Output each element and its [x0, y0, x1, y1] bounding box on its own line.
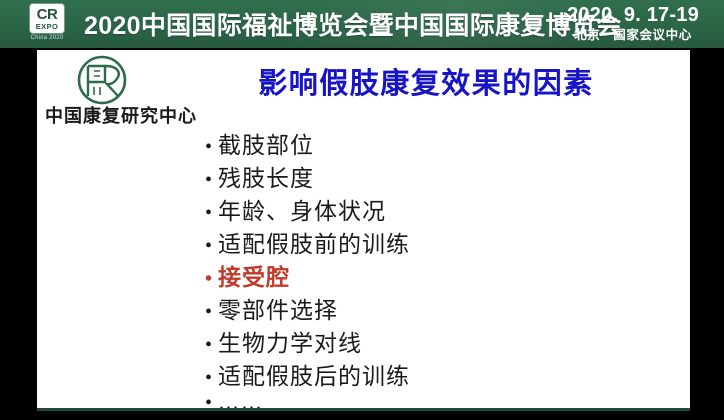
list-item: • 适配假肢前的训练 — [205, 225, 625, 258]
cr-expo-year-text: China 2020 — [31, 35, 64, 41]
event-banner: CR EXPO China 2020 2020中国国际福祉博览会暨中国国际康复博… — [0, 0, 724, 48]
list-item-label: 适配假肢前的训练 — [218, 225, 410, 259]
list-item-label: 适配假肢后的训练 — [218, 357, 410, 391]
cr-expo-expo-text: EXPO — [36, 23, 58, 31]
list-item: • 截肢部位 — [205, 126, 625, 159]
list-item: • 生物力学对线 — [205, 324, 625, 357]
cr-expo-logo: CR EXPO China 2020 — [24, 4, 70, 45]
list-item-label: 年龄、身体状况 — [218, 192, 386, 226]
banner-date-text: 2020. 9. 17-19 — [567, 5, 699, 26]
bullet-dot-icon: • — [205, 137, 218, 157]
cr-expo-badge-icon: CR EXPO — [30, 4, 64, 33]
bullet-dot-icon: • — [205, 203, 218, 223]
crrc-name-text: 中国康复研究中心 — [42, 102, 200, 128]
list-item-highlighted: • 接受腔 — [205, 258, 625, 291]
list-item-label: 残肢长度 — [218, 159, 314, 193]
bullet-dot-icon: • — [205, 368, 218, 388]
list-item-label: …… — [218, 390, 264, 410]
banner-title: 2020中国国际福祉博览会暨中国国际康复博览会 — [84, 0, 622, 48]
list-item-label: 零部件选择 — [218, 291, 338, 325]
list-item: • 残肢长度 — [205, 159, 625, 192]
slide-title: 影响假肢康复效果的因素 — [37, 60, 690, 102]
banner-venue-text: 北京 · 国家会议中心 — [574, 28, 692, 43]
list-item: • …… — [205, 390, 625, 410]
bullet-dot-icon: • — [205, 269, 218, 289]
list-item-label: 生物力学对线 — [218, 324, 362, 358]
factors-bullet-list: • 截肢部位 • 残肢长度 • 年龄、身体状况 • 适配假肢前的训练 • 接受腔… — [205, 126, 625, 410]
list-item: • 适配假肢后的训练 — [205, 357, 625, 390]
presentation-slide: 中国康复研究中心 影响假肢康复效果的因素 • 截肢部位 • 残肢长度 • 年龄、… — [37, 50, 690, 410]
bullet-dot-icon: • — [205, 170, 218, 190]
list-item: • 年龄、身体状况 — [205, 192, 625, 225]
banner-date-block: 2020. 9. 17-19 北京 · 国家会议中心 — [552, 1, 714, 47]
bullet-dot-icon: • — [205, 236, 218, 256]
bullet-dot-icon: • — [205, 302, 218, 322]
list-item-label: 接受腔 — [218, 258, 290, 292]
slide-screenshot: CR EXPO China 2020 2020中国国际福祉博览会暨中国国际康复博… — [0, 0, 724, 420]
list-item: • 零部件选择 — [205, 291, 625, 324]
bullet-dot-icon: • — [205, 335, 218, 355]
list-item-label: 截肢部位 — [218, 126, 314, 160]
cr-expo-cr-text: CR — [37, 7, 58, 22]
slide-bottom-rule — [37, 408, 690, 411]
